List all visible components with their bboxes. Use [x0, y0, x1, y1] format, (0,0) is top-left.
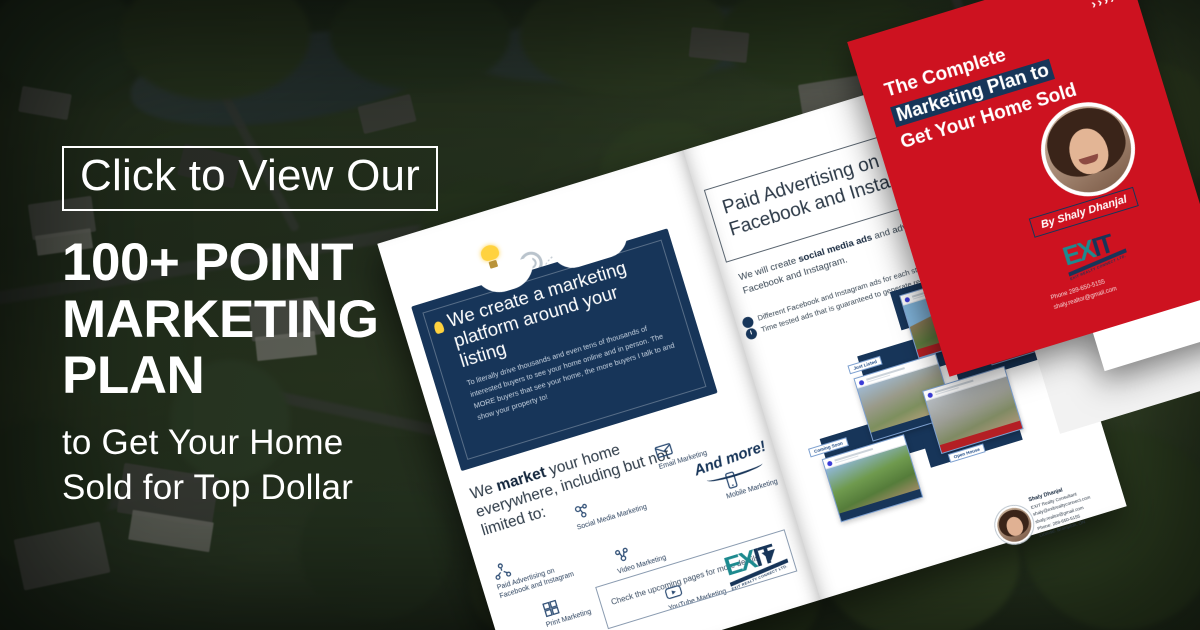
subtitle-line-2: Sold for Top Dollar: [62, 466, 532, 511]
subtitle-line-1: to Get Your Home: [62, 421, 532, 466]
page-subtitle: to Get Your Home Sold for Top Dollar: [62, 421, 532, 511]
promo-banner: Click to View Our 100+ POINT MARKETING P…: [0, 0, 1200, 630]
headline-line-2: MARKETING PLAN: [62, 292, 532, 405]
clock-icon: [745, 327, 759, 341]
page-title: 100+ POINT MARKETING PLAN: [62, 235, 532, 405]
hero-text-block: Click to View Our 100+ POINT MARKETING P…: [62, 146, 532, 511]
headline-line-1: 100+ POINT: [62, 235, 532, 292]
target-icon: [741, 316, 755, 330]
cta-label: Click to View Our: [80, 154, 420, 199]
exit-realty-logo-cover: EXIT EXIT REALTY CONNECT LTD.: [1060, 229, 1129, 279]
click-to-view-cta[interactable]: Click to View Our: [62, 146, 438, 211]
